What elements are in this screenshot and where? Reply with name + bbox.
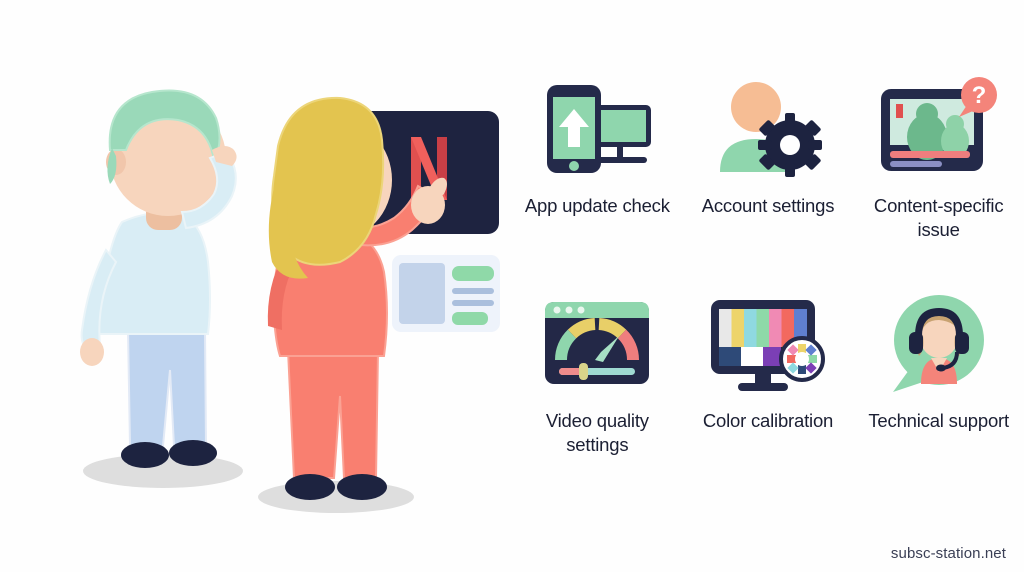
person-gear-icon <box>703 70 833 188</box>
tv-question-icon: ? <box>874 70 1004 188</box>
troubleshooting-options-panel: App update check <box>512 70 1024 490</box>
option-grid: App update check <box>512 70 1024 490</box>
app-list-card <box>392 255 500 332</box>
gauge-window-icon <box>532 285 662 403</box>
option-label: Video quality settings <box>521 409 673 456</box>
option-app-update-check[interactable]: App update check <box>512 70 683 275</box>
option-label: Technical support <box>868 409 1009 433</box>
option-label: Account settings <box>702 194 835 218</box>
svg-text:?: ? <box>971 82 986 109</box>
option-label: Color calibration <box>703 409 833 433</box>
headset-agent-bubble-icon <box>874 285 1004 403</box>
option-label: App update check <box>525 194 670 218</box>
option-color-calibration[interactable]: Color calibration <box>683 285 854 490</box>
option-technical-support[interactable]: Technical support <box>853 285 1024 490</box>
question-badge: ? <box>959 77 997 117</box>
character-confused-person <box>80 90 237 468</box>
phone-upload-icon <box>532 70 662 188</box>
option-account-settings[interactable]: Account settings <box>683 70 854 275</box>
gear-shape <box>758 113 822 177</box>
people-and-screen-illustration <box>0 0 520 572</box>
illustration-scene <box>0 0 520 572</box>
option-video-quality-settings[interactable]: Video quality settings <box>512 285 683 490</box>
monitor-colorbars-icon <box>703 285 833 403</box>
option-label: Content-specific issue <box>863 194 1015 241</box>
color-wheel-badge <box>781 338 823 380</box>
illustration-canvas: App update check <box>0 0 1024 572</box>
site-watermark: subsc-station.net <box>891 545 1006 562</box>
option-content-specific-issue[interactable]: ? Content-specific issue <box>853 70 1024 275</box>
shadow-right-person <box>258 481 414 513</box>
